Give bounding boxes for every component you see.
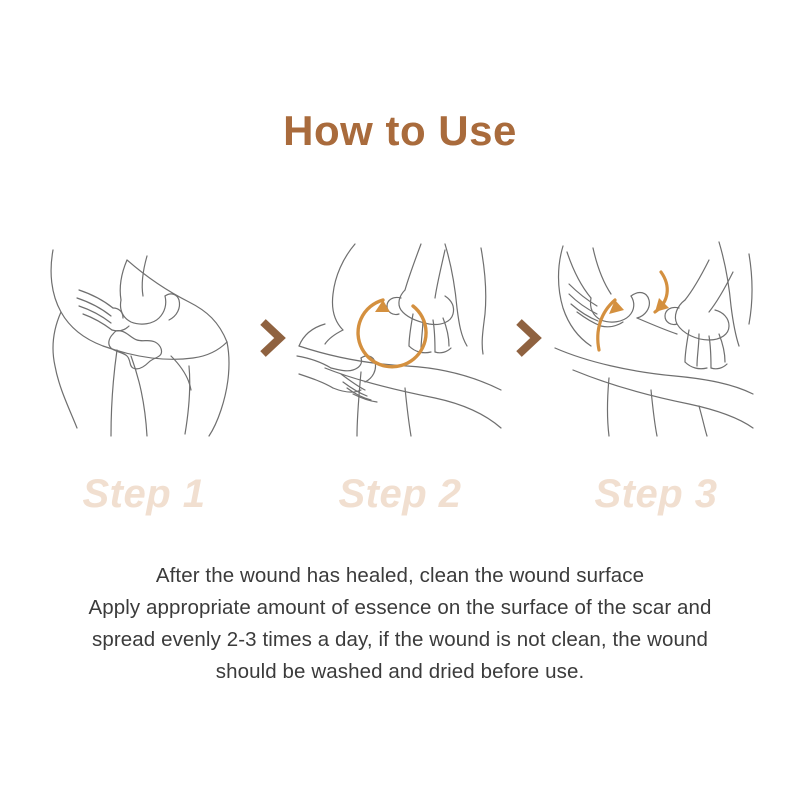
step-1-illustration bbox=[39, 238, 249, 438]
circular-motion-arrow-icon bbox=[358, 300, 426, 367]
instructions-line-1: After the wound has healed, clean the wo… bbox=[40, 560, 760, 592]
two-hands-spreading-arrows-icon bbox=[551, 238, 761, 438]
step-separator-1 bbox=[249, 238, 295, 438]
page-title: How to Use bbox=[0, 108, 800, 154]
chevron-right-icon bbox=[258, 318, 286, 358]
instructions-line-2: Apply appropriate amount of essence on t… bbox=[40, 592, 760, 624]
step-separator-2 bbox=[505, 238, 551, 438]
chevron-right-icon bbox=[514, 318, 542, 358]
step-1-caption: Step 1 bbox=[39, 471, 249, 517]
step-captions-row: Step 1 Step 2 Step 3 bbox=[0, 462, 800, 526]
step-3-illustration bbox=[551, 238, 761, 438]
steps-illustration-row bbox=[0, 238, 800, 438]
leg-with-hand-applying-gel-icon bbox=[39, 238, 249, 438]
instructions-line-3: spread evenly 2-3 times a day, if the wo… bbox=[40, 624, 760, 656]
step-2-caption: Step 2 bbox=[295, 471, 505, 517]
instructions-paragraph: After the wound has healed, clean the wo… bbox=[40, 560, 760, 688]
step-3-caption: Step 3 bbox=[551, 471, 761, 517]
how-to-use-page: How to Use bbox=[0, 0, 800, 800]
two-hands-circular-massage-icon bbox=[295, 238, 505, 438]
step-2-illustration bbox=[295, 238, 505, 438]
instructions-line-4: should be washed and dried before use. bbox=[40, 656, 760, 688]
